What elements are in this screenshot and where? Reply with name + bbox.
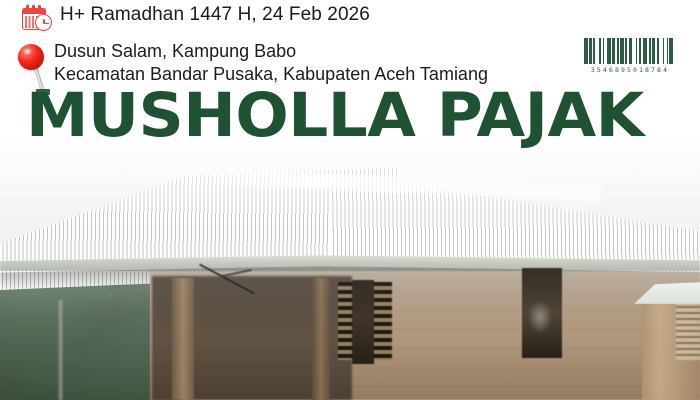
barcode-bar <box>673 38 676 64</box>
pin-highlight <box>23 48 32 55</box>
annex-slats <box>676 300 700 360</box>
photo-card: H+ Ramadhan 1447 H, 24 Feb 2026 Dusun Sa… <box>0 0 700 400</box>
pin-head <box>18 44 44 70</box>
wooden-post <box>312 278 330 400</box>
barcode-bars <box>584 38 676 64</box>
wooden-post <box>172 278 194 400</box>
barcode-digits: 3546895018784 <box>584 66 676 74</box>
window-glare <box>528 300 552 334</box>
window-opening <box>352 280 374 364</box>
calendar-clock-icon <box>22 5 52 32</box>
clock-minute-hand <box>44 23 49 25</box>
header-overlay: H+ Ramadhan 1447 H, 24 Feb 2026 Dusun Sa… <box>0 0 700 160</box>
barcode-icon: 3546895018784 <box>584 38 676 80</box>
page-title: MUSHOLLA PAJAK <box>26 85 644 146</box>
date-text: H+ Ramadhan 1447 H, 24 Feb 2026 <box>60 4 370 26</box>
clock-face <box>35 14 52 31</box>
location-line-1: Dusun Salam, Kampung Babo <box>54 40 488 63</box>
